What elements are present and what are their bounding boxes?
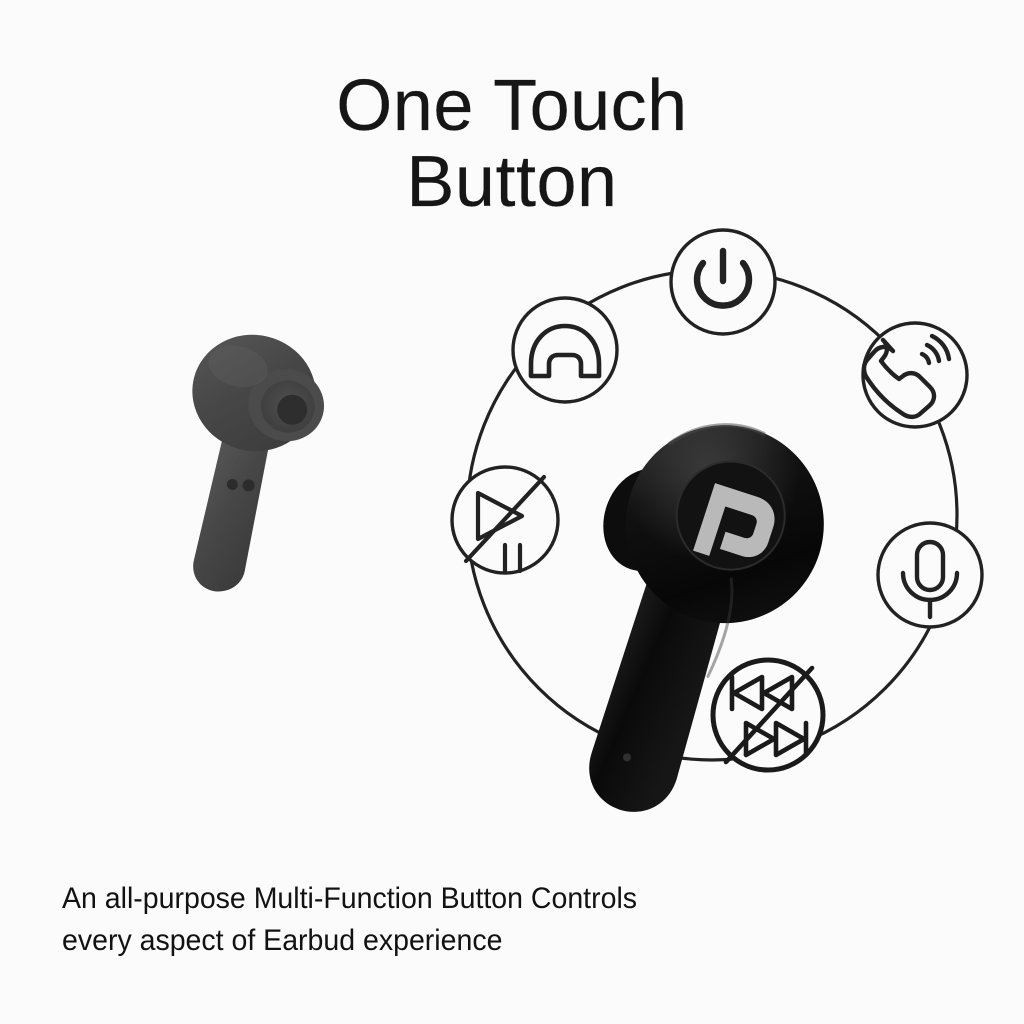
page-title-line-1: One Touch — [0, 68, 1024, 144]
feature-node-end-call — [513, 298, 617, 402]
main-earbud-body — [520, 395, 840, 844]
page-title-line-2: Button — [0, 144, 1024, 220]
caption-line-1: An all-purpose Multi-Function Button Con… — [62, 878, 860, 920]
feature-node-microphone — [878, 523, 982, 627]
feature-node-answer-call — [863, 323, 967, 427]
main-earbud — [520, 395, 840, 845]
product-feature-graphic: One Touch Button — [0, 0, 1024, 1024]
secondary-earbud-body — [148, 322, 338, 607]
secondary-earbud — [148, 300, 338, 610]
caption: An all-purpose Multi-Function Button Con… — [62, 878, 860, 962]
feature-node-power — [671, 230, 775, 334]
page-title: One Touch Button — [0, 68, 1024, 220]
caption-line-2: every aspect of Earbud experience — [62, 920, 860, 962]
end-call-bubble — [513, 298, 617, 402]
